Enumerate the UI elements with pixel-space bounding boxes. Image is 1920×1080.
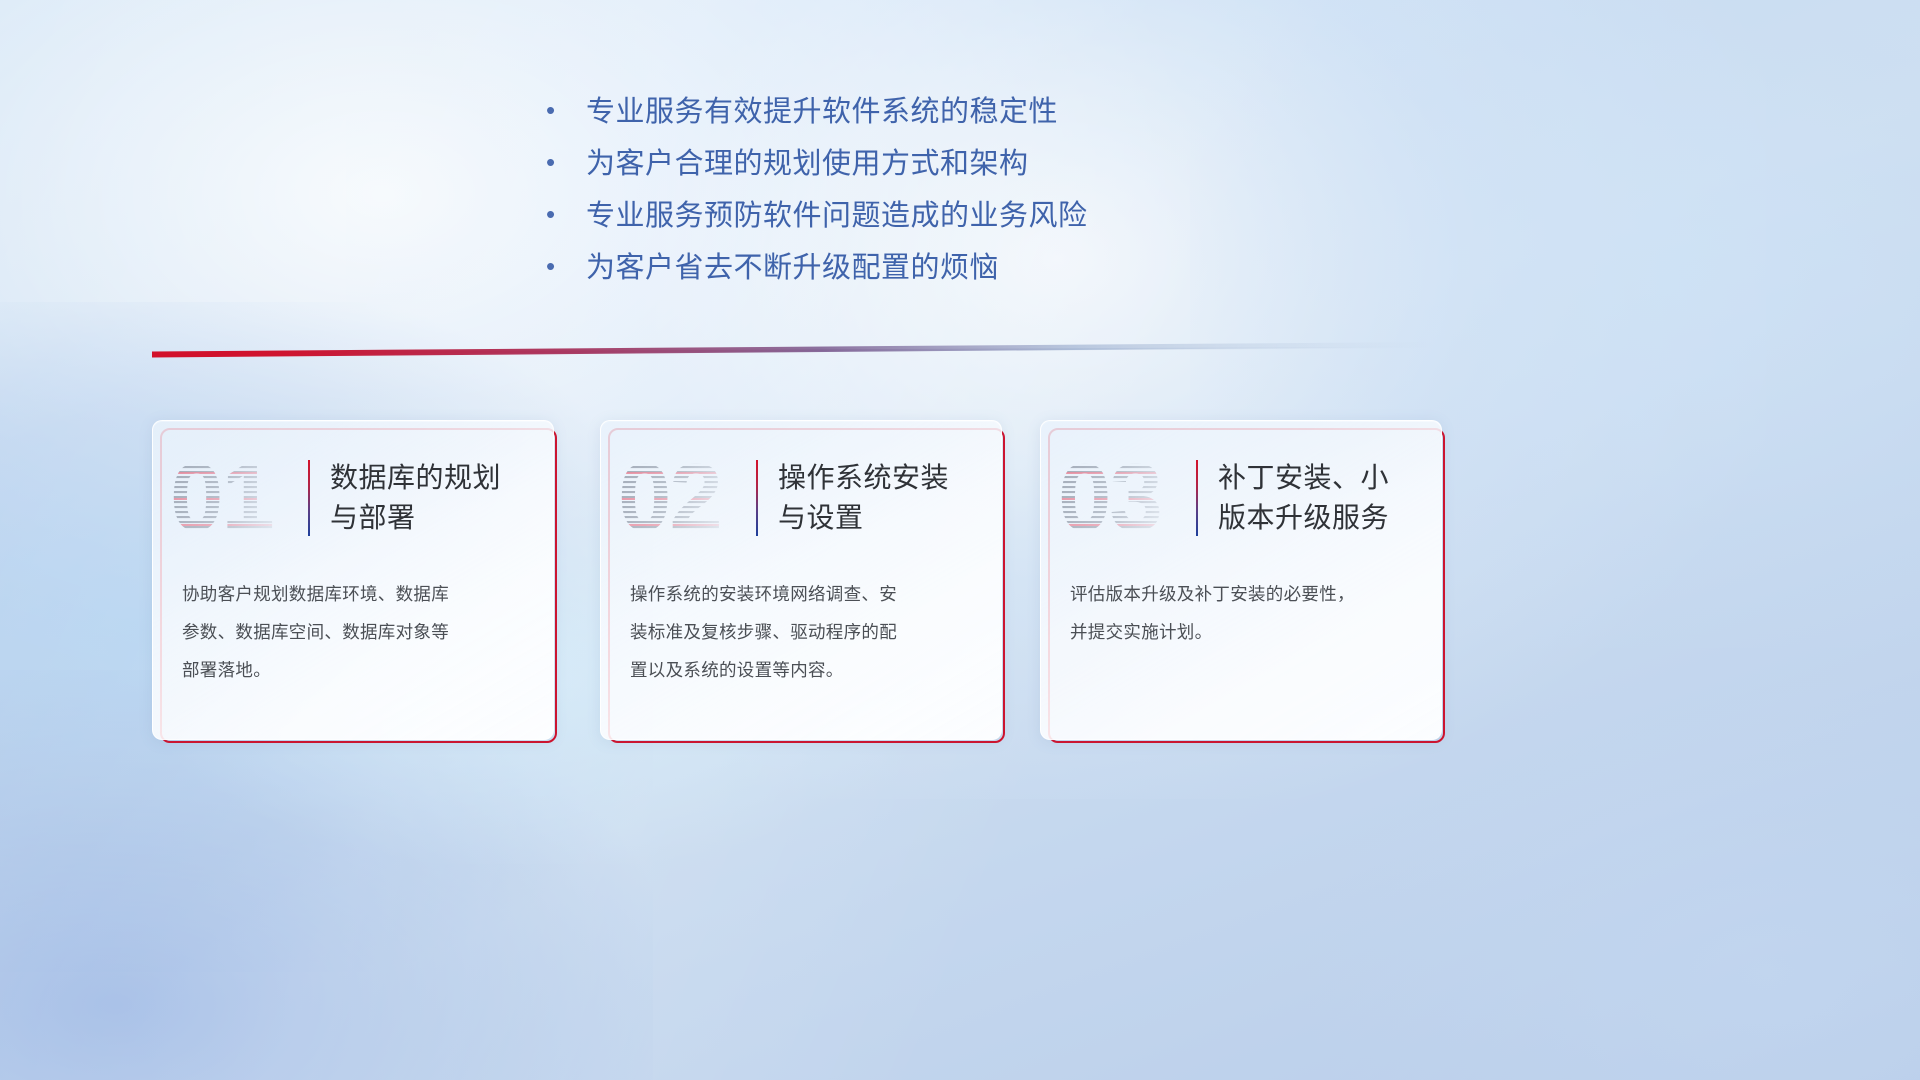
card-description-line: 评估版本升级及补丁安装的必要性， xyxy=(1070,575,1418,613)
card-description: 评估版本升级及补丁安装的必要性， 并提交实施计划。 xyxy=(1070,575,1418,651)
bullet-dot-icon: • xyxy=(540,149,586,175)
svg-text:01: 01 xyxy=(170,446,273,550)
section-divider xyxy=(152,340,1438,366)
feature-card-02[interactable]: 02 02 操作系统安装 与设置 操作系统的安装环境网络调查、安 装标准及复核步… xyxy=(600,420,1000,738)
card-title-line: 与设置 xyxy=(778,498,986,538)
card-description-line: 置以及系统的设置等内容。 xyxy=(630,651,978,689)
card-description-line: 操作系统的安装环境网络调查、安 xyxy=(630,575,978,613)
card-description-line: 参数、数据库空间、数据库对象等 xyxy=(182,613,530,651)
card-number-watermark-icon: 02 02 xyxy=(616,446,748,550)
card-title: 补丁安装、小 版本升级服务 xyxy=(1218,458,1440,538)
bullet-dot-icon: • xyxy=(540,201,586,227)
svg-text:02: 02 xyxy=(618,446,721,550)
slide-canvas: • 专业服务有效提升软件系统的稳定性 • 为客户合理的规划使用方式和架构 • 专… xyxy=(0,0,1920,1080)
card-description: 协助客户规划数据库环境、数据库 参数、数据库空间、数据库对象等 部署落地。 xyxy=(182,575,530,689)
card-description-line: 部署落地。 xyxy=(182,651,530,689)
card-title-rule xyxy=(308,460,310,536)
list-item: • 为客户省去不断升级配置的烦恼 xyxy=(540,244,1300,296)
card-title-line: 数据库的规划 xyxy=(330,458,538,498)
card-description-line: 并提交实施计划。 xyxy=(1070,613,1418,651)
bullet-label: 为客户省去不断升级配置的烦恼 xyxy=(586,244,999,286)
card-number-watermark-icon: 03 03 xyxy=(1056,446,1188,550)
svg-text:03: 03 xyxy=(1058,446,1161,550)
list-item: • 为客户合理的规划使用方式和架构 xyxy=(540,140,1300,192)
card-description: 操作系统的安装环境网络调查、安 装标准及复核步骤、驱动程序的配 置以及系统的设置… xyxy=(630,575,978,689)
bullet-list: • 专业服务有效提升软件系统的稳定性 • 为客户合理的规划使用方式和架构 • 专… xyxy=(540,88,1300,296)
card-group: 01 01 数据库的规划 与部署 协助客户规划数据库环境、数据库 参数、数据库空… xyxy=(0,420,1920,760)
feature-card-01[interactable]: 01 01 数据库的规划 与部署 协助客户规划数据库环境、数据库 参数、数据库空… xyxy=(152,420,552,738)
card-description-line: 装标准及复核步骤、驱动程序的配 xyxy=(630,613,978,651)
list-item: • 专业服务预防软件问题造成的业务风险 xyxy=(540,192,1300,244)
card-title: 操作系统安装 与设置 xyxy=(778,458,1000,538)
card-title-rule xyxy=(1196,460,1198,536)
card-header: 01 01 数据库的规划 与部署 xyxy=(152,442,552,554)
bullet-label: 专业服务预防软件问题造成的业务风险 xyxy=(586,192,1088,234)
card-number-watermark-icon: 01 01 xyxy=(168,446,300,550)
bullet-dot-icon: • xyxy=(540,253,586,279)
card-header: 03 03 补丁安装、小 版本升级服务 xyxy=(1040,442,1440,554)
bullet-label: 专业服务有效提升软件系统的稳定性 xyxy=(586,88,1058,130)
bullet-label: 为客户合理的规划使用方式和架构 xyxy=(586,140,1029,182)
card-title-rule xyxy=(756,460,758,536)
card-header: 02 02 操作系统安装 与设置 xyxy=(600,442,1000,554)
card-title-line: 补丁安装、小 xyxy=(1218,458,1426,498)
card-description-line: 协助客户规划数据库环境、数据库 xyxy=(182,575,530,613)
list-item: • 专业服务有效提升软件系统的稳定性 xyxy=(540,88,1300,140)
bullet-dot-icon: • xyxy=(540,97,586,123)
card-title-line: 操作系统安装 xyxy=(778,458,986,498)
card-title: 数据库的规划 与部署 xyxy=(330,458,552,538)
feature-card-03[interactable]: 03 03 补丁安装、小 版本升级服务 评估版本升级及补丁安装的必要性， 并提交… xyxy=(1040,420,1440,738)
card-title-line: 版本升级服务 xyxy=(1218,498,1426,538)
card-title-line: 与部署 xyxy=(330,498,538,538)
